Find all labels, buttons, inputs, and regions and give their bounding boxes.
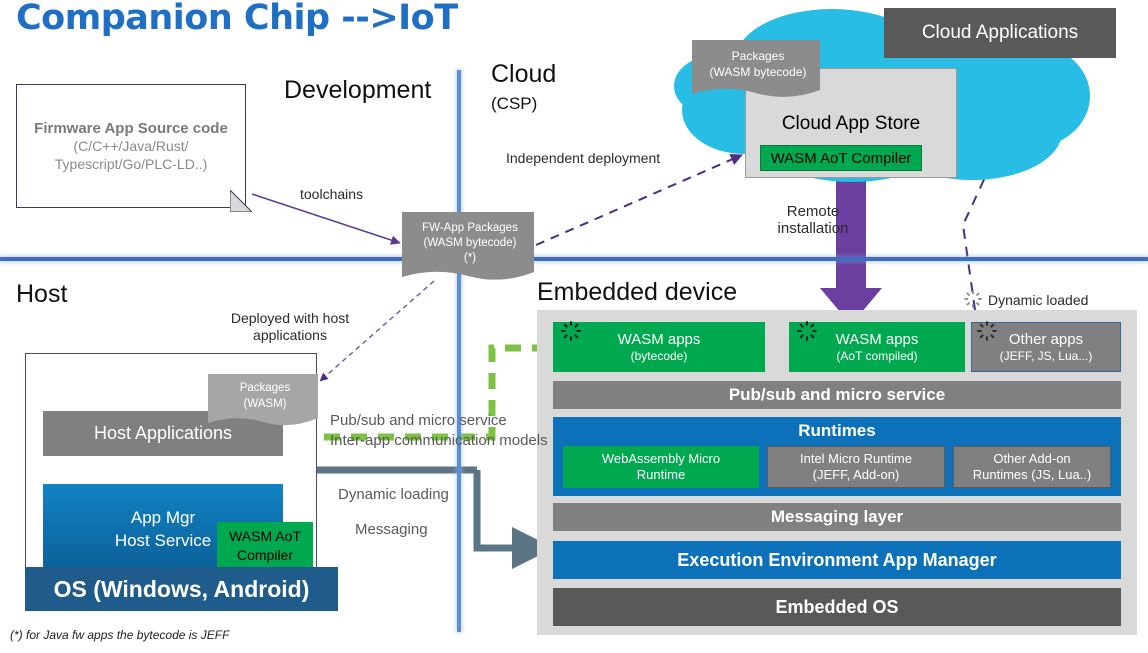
callout-tail (230, 190, 252, 212)
embedded-app-1-sub: (AoT compiled) (836, 349, 917, 364)
label-dynamic-loading: Dynamic loading (338, 486, 449, 503)
embedded-os-bar: Embedded OS (553, 588, 1121, 626)
spinner-icon (560, 320, 582, 342)
runtime-wasm-micro: WebAssembly Micro Runtime (563, 446, 759, 488)
runtime-0-line1: WebAssembly Micro (602, 451, 720, 467)
embedded-app-1-name: WASM apps (836, 331, 919, 349)
section-development: Development (284, 76, 431, 105)
label-messaging: Messaging (355, 521, 428, 538)
firmware-source-heading: Firmware App Source code (34, 120, 228, 137)
label-deployed-line1: Deployed with host (216, 310, 364, 327)
embedded-app-2-name: Other apps (1009, 331, 1083, 349)
footnote: (*) for Java fw apps the bytecode is JEF… (10, 628, 229, 642)
spinner-icon (796, 320, 818, 342)
packages-cloud-line1: Packages (692, 48, 824, 64)
runtime-0-line2: Runtime (637, 467, 685, 483)
packages-cloud-line2: (WASM bytecode) (692, 64, 824, 80)
section-host: Host (16, 280, 67, 309)
app-mgr-line1: App Mgr (131, 506, 195, 529)
firmware-source-code-box: Firmware App Source code (C/C++/Java/Rus… (16, 84, 246, 208)
runtime-other-addon: Other Add-on Runtimes (JS, Lua..) (953, 446, 1111, 488)
label-deployed-with-host: Deployed with host applications (216, 310, 364, 344)
section-cloud: Cloud (491, 60, 556, 89)
embedded-messaging-layer-bar: Messaging layer (553, 503, 1121, 531)
embedded-runtimes-title: Runtimes (553, 419, 1121, 443)
runtime-1-line2: (JEFF, Add-on) (813, 467, 900, 483)
firmware-source-line1: (C/C++/Java/Rust/ (73, 137, 188, 155)
packages-host-line2: (WASM) (208, 396, 322, 412)
arrow-messaging (477, 470, 528, 548)
label-toolchains: toolchains (300, 186, 363, 203)
host-wasm-aot-line1: WASM AoT (229, 527, 301, 546)
app-mgr-line2: Host Service (115, 529, 211, 552)
runtime-1-line1: Intel Micro Runtime (800, 451, 912, 467)
divider-horizontal (0, 257, 1148, 261)
label-dynamic-loaded: Dynamic loaded (988, 292, 1088, 309)
embedded-app-0-name: WASM apps (618, 331, 701, 349)
embedded-app-2-sub: (JEFF, JS, Lua...) (1000, 349, 1093, 364)
cloud-wasm-aot-compiler: WASM AoT Compiler (760, 145, 922, 171)
embedded-app-0-sub: (bytecode) (631, 349, 688, 364)
fw-packages-line3: (*) (402, 251, 538, 266)
page-title: Companion Chip -->IoT (16, 0, 458, 38)
arrow-remote-installation (820, 168, 882, 325)
packages-host-line1: Packages (208, 380, 322, 396)
host-os-box: OS (Windows, Android) (25, 567, 338, 611)
label-interapp-line1: Pub/sub and micro service (330, 411, 548, 431)
label-independent-deployment: Independent deployment (506, 150, 660, 167)
label-remote-line1: Remote (773, 203, 853, 220)
spinner-icon (963, 289, 983, 309)
embedded-eeam-bar: Execution Environment App Manager (553, 541, 1121, 579)
embedded-pubsub-bar: Pub/sub and micro service (553, 381, 1121, 409)
spinner-icon (976, 320, 998, 342)
section-embedded-device: Embedded device (537, 278, 737, 307)
host-wasm-aot-compiler-box: WASM AoT Compiler (217, 522, 313, 570)
fw-app-packages-tag: FW-App Packages (WASM bytecode) (*) (402, 212, 538, 286)
fw-packages-line2: (WASM bytecode) (402, 236, 538, 251)
label-interapp: Pub/sub and micro service Inter-app comm… (330, 411, 548, 451)
label-deployed-line2: applications (216, 327, 364, 344)
label-remote-installation: Remote installation (773, 203, 853, 237)
firmware-source-line2: Typescript/Go/PLC-LD..) (55, 155, 208, 173)
host-wasm-aot-line2: Compiler (237, 546, 293, 565)
runtime-intel-micro: Intel Micro Runtime (JEFF, Add-on) (767, 446, 945, 488)
cloud-app-store-title: Cloud App Store (746, 111, 956, 137)
packages-cloud-tag: Packages (WASM bytecode) (692, 40, 824, 102)
cloud-applications-box: Cloud Applications (884, 8, 1116, 58)
runtime-2-line2: Runtimes (JS, Lua..) (973, 467, 1092, 483)
packages-host-tag: Packages (WASM) (208, 374, 322, 430)
section-cloud-sub: (CSP) (491, 94, 537, 114)
fw-packages-line1: FW-App Packages (402, 221, 538, 236)
label-remote-line2: installation (773, 220, 853, 237)
embedded-app-wasm-bytecode: WASM apps (bytecode) (553, 322, 765, 372)
label-interapp-line2: Inter-app communication models (330, 431, 548, 451)
runtime-2-line1: Other Add-on (993, 451, 1070, 467)
